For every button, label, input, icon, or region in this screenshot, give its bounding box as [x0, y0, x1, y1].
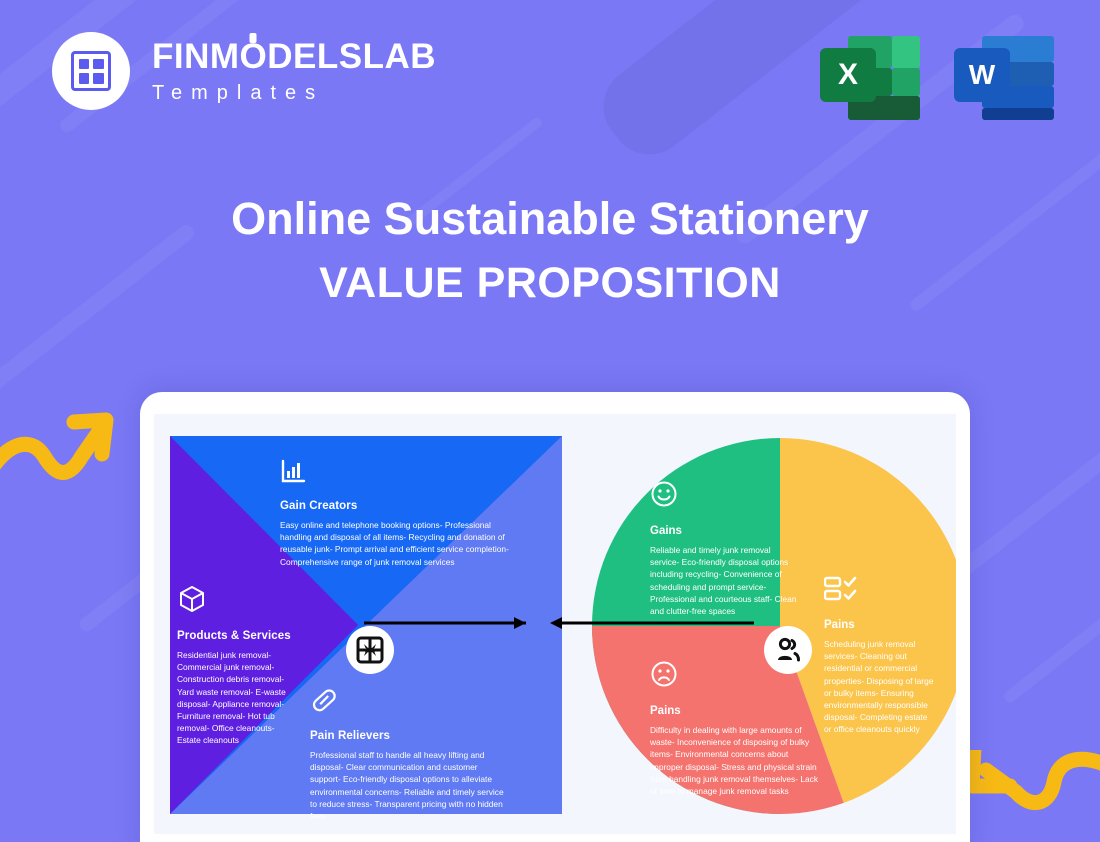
brand-name: FINMODELSLAB: [152, 39, 436, 74]
box-package-icon: [177, 584, 299, 619]
decorative-squiggle-arrow-right: [958, 750, 1100, 842]
brush-stroke: [957, 379, 1100, 576]
block-gains[interactable]: Gains Reliable and timely junk removal s…: [650, 480, 802, 617]
block-pains-tasks[interactable]: Pains Scheduling junk removal services- …: [824, 576, 934, 736]
gift-box-icon: [355, 635, 385, 665]
slide-card: Gain Creators Easy online and telephone …: [140, 392, 970, 842]
title-group: Online Sustainable Stationery VALUE PROP…: [0, 192, 1100, 308]
customer-profile-pie: Gains Reliable and timely junk removal s…: [592, 438, 956, 814]
value-map-center-badge[interactable]: [346, 626, 394, 674]
block-body: Difficulty in dealing with large amounts…: [650, 724, 820, 797]
word-icon[interactable]: W: [954, 28, 1054, 120]
smiley-face-icon: [650, 480, 802, 513]
block-pains-problems[interactable]: Pains Difficulty in dealing with large a…: [650, 660, 820, 797]
block-title: Products & Services: [177, 630, 299, 642]
diagram-canvas: Gain Creators Easy online and telephone …: [154, 414, 956, 834]
card-bottom-strip: [140, 834, 970, 842]
block-title: Pains: [650, 705, 820, 717]
page-title: Online Sustainable Stationery: [0, 192, 1100, 245]
block-body: Professional staff to handle all heavy l…: [310, 749, 505, 822]
block-products-services[interactable]: Products & Services Residential junk rem…: [177, 584, 299, 747]
block-body: Residential junk removal- Commercial jun…: [177, 649, 299, 747]
users-people-icon: [773, 635, 803, 665]
bar-chart-icon: [280, 458, 510, 489]
checklist-icon: [824, 576, 934, 607]
brand-subtitle: Templates: [152, 83, 436, 103]
block-title: Gains: [650, 525, 802, 537]
excel-icon[interactable]: X: [820, 28, 920, 120]
block-gain-creators[interactable]: Gain Creators Easy online and telephone …: [280, 458, 510, 568]
decorative-squiggle-arrow-left: [0, 400, 132, 510]
pill-capsule-icon: [310, 686, 505, 719]
poster-canvas: FINMODELSLAB Templates X W Online Sustai…: [0, 0, 1100, 842]
word-icon-letter: W: [954, 48, 1010, 102]
block-title: Pain Relievers: [310, 730, 505, 742]
block-title: Pains: [824, 619, 934, 631]
brand-logo[interactable]: FINMODELSLAB Templates: [52, 32, 436, 110]
block-pain-relievers[interactable]: Pain Relievers Professional staff to han…: [310, 686, 505, 822]
value-map-square: Gain Creators Easy online and telephone …: [170, 436, 562, 814]
office-format-icons: X W: [820, 28, 1054, 120]
block-title: Gain Creators: [280, 500, 510, 512]
header: FINMODELSLAB Templates X W: [0, 0, 1100, 150]
block-body: Easy online and telephone booking option…: [280, 519, 510, 568]
block-body: Scheduling junk removal services- Cleani…: [824, 638, 934, 736]
block-body: Reliable and timely junk removal service…: [650, 544, 802, 617]
brush-stroke: [1002, 547, 1100, 704]
grid-logo-icon: [52, 32, 130, 110]
page-subtitle: VALUE PROPOSITION: [0, 259, 1100, 308]
excel-icon-letter: X: [820, 48, 876, 102]
customer-profile-center-badge[interactable]: [764, 626, 812, 674]
